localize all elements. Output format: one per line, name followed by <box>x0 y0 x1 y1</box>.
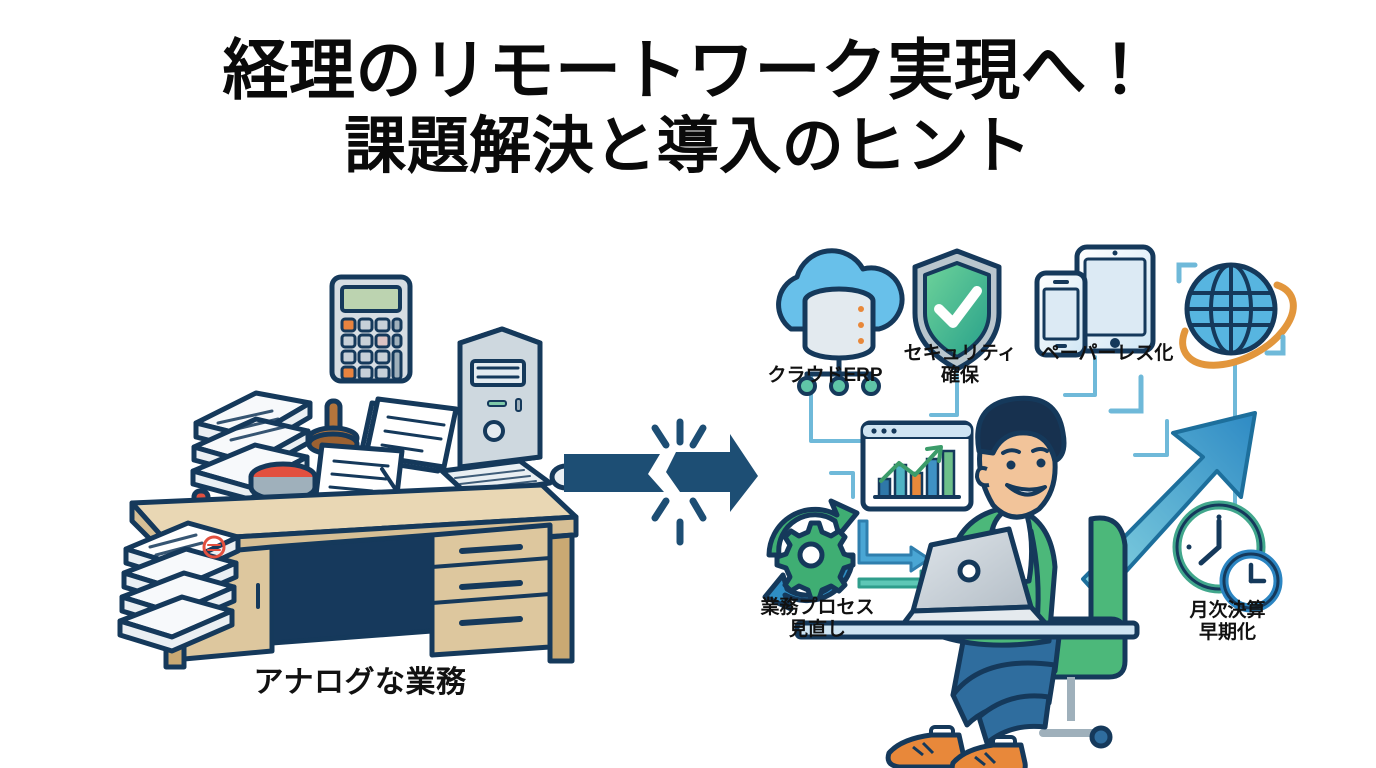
right-scene-digital: クラウドERP セキュリティ 確保 ペーパーレス化 業務プロセス 見直し 月次決… <box>735 245 1355 745</box>
transition-arrow <box>560 400 760 560</box>
left-scene-caption: アナログな業務 <box>220 665 500 700</box>
icon-label-process: 業務プロセス 見直し <box>735 597 900 642</box>
digital-workplace-illustration <box>735 245 1355 745</box>
analog-desk-illustration <box>110 255 590 675</box>
globe-icon <box>1179 265 1293 365</box>
icon-label-closing: 月次決算 早期化 <box>1160 600 1295 645</box>
icon-label-paperless: ペーパーレス化 <box>1027 343 1187 365</box>
break-through-arrow-icon <box>560 400 760 560</box>
analytics-dashboard-icon <box>863 423 971 509</box>
calculator-icon <box>332 277 410 381</box>
process-review-icon <box>765 501 857 609</box>
title-line-1: 経理のリモートワーク実現へ！ <box>0 34 1376 108</box>
icon-label-cloud-erp: クラウドERP <box>745 365 905 387</box>
left-scene-analog: アナログな業務 <box>110 255 590 675</box>
infographic-canvas: 経理のリモートワーク実現へ！ 課題解決と導入のヒント <box>0 0 1376 768</box>
pc-tower-icon <box>460 329 540 467</box>
monthly-closing-icon <box>1177 505 1278 608</box>
title-line-2: 課題解決と導入のヒント <box>0 112 1376 181</box>
paper-stack-floor <box>120 523 238 651</box>
icon-label-security: セキュリティ 確保 <box>885 343 1035 388</box>
corner-bracket <box>1111 377 1141 411</box>
paperless-devices-icon <box>1037 247 1153 355</box>
page-title: 経理のリモートワーク実現へ！ 課題解決と導入のヒント <box>0 34 1376 181</box>
